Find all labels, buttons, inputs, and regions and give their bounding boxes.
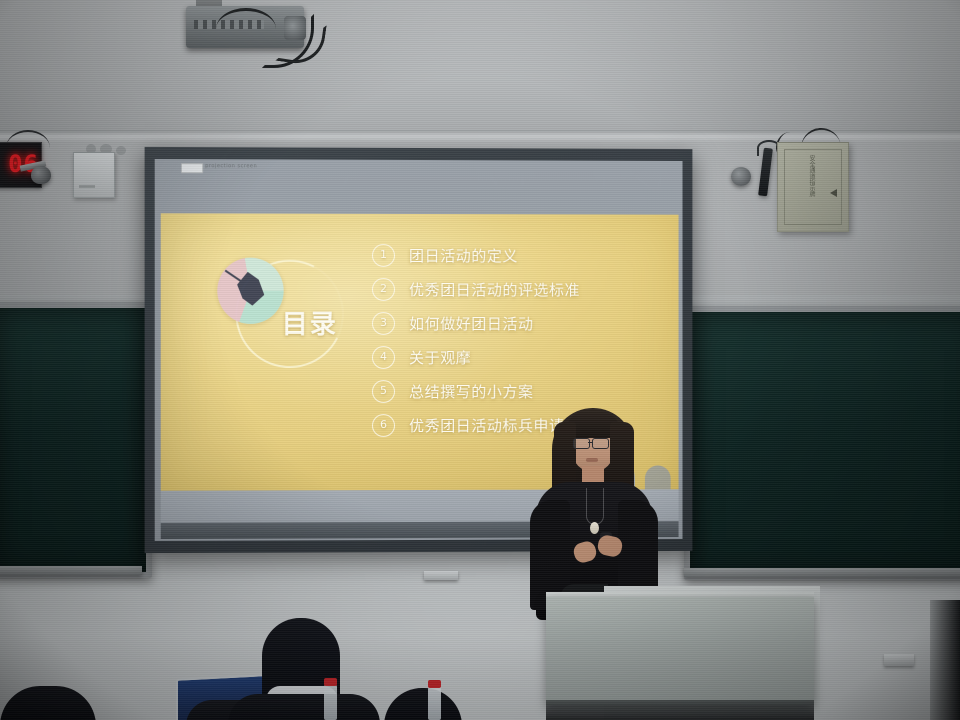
list-item-label: 团日活动的定义	[409, 244, 518, 265]
water-bottle-cap	[428, 680, 441, 688]
wall-mounted-box	[73, 152, 115, 198]
podium-front-panel	[546, 597, 814, 705]
water-bottle-cap	[324, 678, 337, 686]
audience-shoulders	[228, 694, 380, 720]
list-item-number: 5	[372, 380, 395, 403]
list-item-label: 如何做好团日活动	[409, 312, 534, 333]
wall-speaker-icon	[31, 166, 51, 184]
bird-shape-icon	[234, 270, 266, 307]
wall-notice-board: 安全通道指示牌	[777, 142, 849, 232]
list-item-number: 4	[372, 345, 395, 368]
glasses-bridge-icon	[588, 442, 593, 443]
podium-base-shadow	[546, 700, 814, 720]
water-bottle-icon	[428, 686, 441, 720]
foreground-shadow	[930, 600, 960, 720]
list-item: 4 关于观摩	[372, 340, 671, 374]
direction-arrow-icon	[830, 189, 837, 197]
chalk-tray-left	[0, 566, 142, 575]
list-item: 1 团日活动的定义	[372, 238, 671, 272]
bird-beak-icon	[225, 270, 244, 284]
list-item: 2 优秀团日活动的评选标准	[372, 272, 671, 306]
list-item-number: 2	[372, 277, 395, 300]
water-bottle-icon	[324, 684, 337, 720]
wall-speaker-icon	[731, 167, 751, 186]
pendant-icon	[590, 522, 599, 534]
presenter-mouth	[586, 458, 598, 462]
ceiling-pipe	[116, 146, 126, 155]
list-item-number: 1	[372, 243, 395, 266]
blackboard-eraser	[424, 571, 458, 580]
necklace-strap	[586, 488, 604, 525]
list-item-label: 总结撰写的小方案	[409, 380, 534, 401]
blackboard-left	[0, 302, 152, 578]
circle-bird-logo-icon	[217, 258, 283, 324]
list-item: 3 如何做好团日活动	[372, 306, 671, 340]
classroom-photo-scene: 06 安全通道指示牌 projection screen	[0, 0, 960, 720]
screen-pull-tab[interactable]	[181, 163, 203, 173]
list-item-label: 优秀团日活动的评选标准	[409, 278, 580, 299]
glasses-icon	[573, 438, 590, 449]
slide-logo-group: 目录	[213, 254, 344, 370]
screen-brand-label: projection screen	[205, 163, 257, 169]
blackboard-eraser	[884, 654, 914, 666]
blackboard-right	[684, 306, 960, 580]
notice-board-text: 安全通道指示牌	[804, 155, 816, 197]
chalk-tray-right	[684, 568, 960, 577]
list-item: 5 总结撰写的小方案	[372, 374, 671, 408]
upper-wall	[0, 0, 960, 135]
list-item-label: 关于观摩	[409, 346, 471, 367]
glasses-icon	[592, 438, 609, 449]
list-item-number: 3	[372, 311, 395, 334]
slide-heading: 目录	[282, 304, 338, 341]
list-item-number: 6	[372, 414, 395, 437]
